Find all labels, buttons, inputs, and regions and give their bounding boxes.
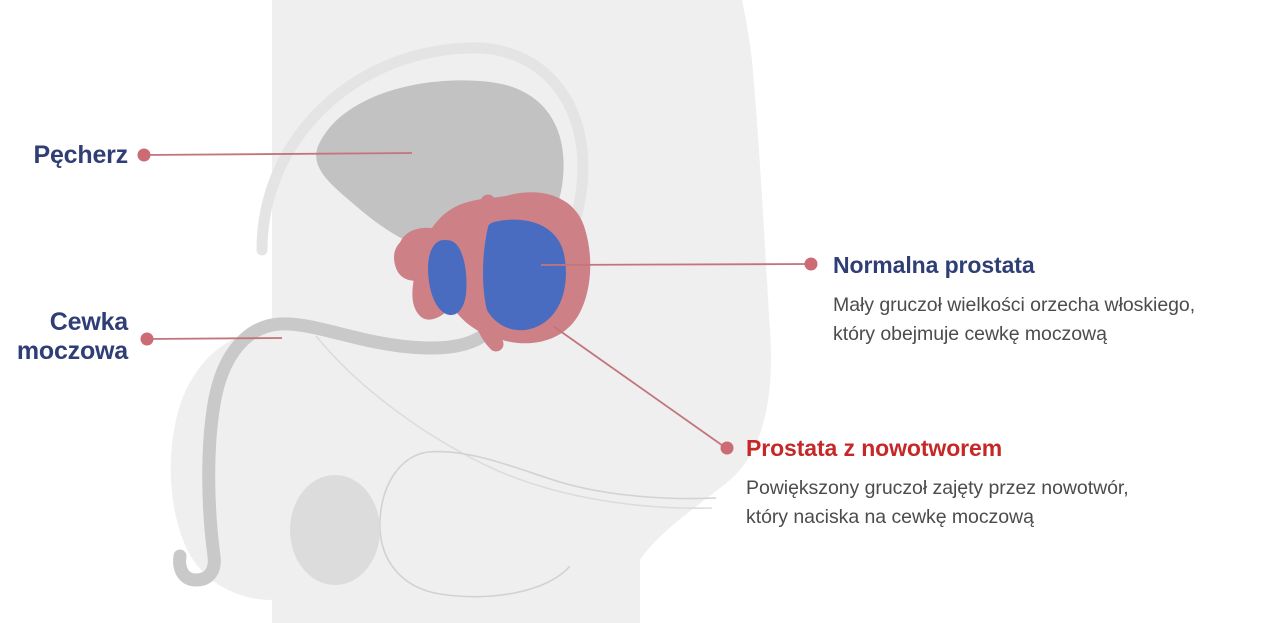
callout-heading-normalna-prostata: Normalna prostata	[833, 252, 1280, 280]
prostate-normal-right-lobe	[478, 220, 566, 331]
diagram-canvas: Pęcherz Cewka moczowa Normalna prostata …	[0, 0, 1280, 623]
callout-heading-prostata-z-nowotworem: Prostata z nowotworem	[746, 435, 1206, 463]
label-cewka-moczowa: Cewka moczowa	[0, 308, 128, 366]
callout-prostata-z-nowotworem: Prostata z nowotworem Powiększony gruczo…	[746, 435, 1206, 533]
leader-dot-cewka	[141, 333, 154, 346]
leader-line-cewka	[146, 338, 282, 339]
leader-dot-prostata-nowotwor	[721, 442, 734, 455]
callout-normalna-prostata: Normalna prostata Mały gruczoł wielkości…	[833, 252, 1280, 350]
leader-dot-normalna-prostata	[805, 258, 818, 271]
callout-body-normalna-prostata: Mały gruczoł wielkości orzecha włoskiego…	[833, 291, 1280, 350]
callout-body-prostata-z-nowotworem: Powiększony gruczoł zajęty przez nowotwó…	[746, 474, 1206, 533]
testicle	[290, 475, 380, 585]
leader-line-normalna-prostata	[541, 264, 810, 265]
testicle-group	[290, 475, 380, 585]
leader-dot-pecherz	[138, 149, 151, 162]
label-pecherz: Pęcherz	[0, 141, 128, 170]
